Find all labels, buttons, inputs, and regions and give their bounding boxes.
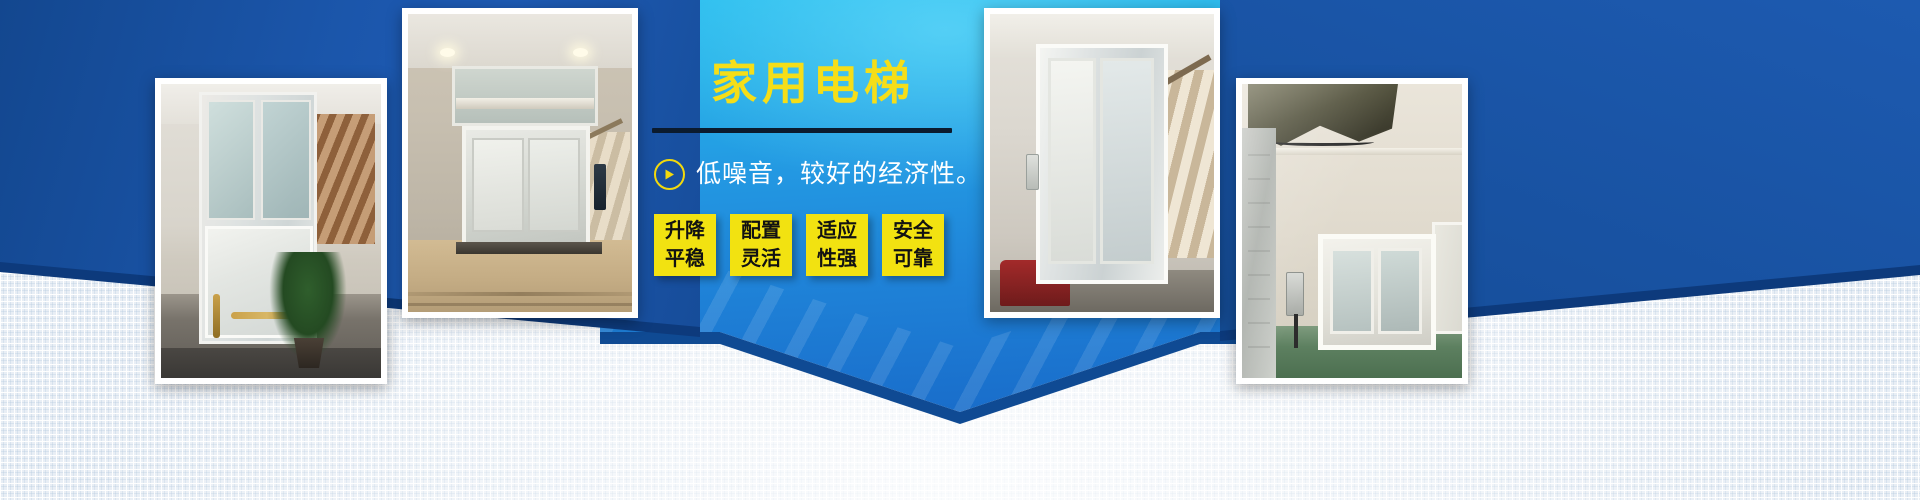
- title-divider: [652, 128, 952, 133]
- feature-badge-line1: 配置: [741, 217, 781, 245]
- product-photo-3[interactable]: [984, 8, 1220, 318]
- feature-badge-line1: 安全: [893, 217, 933, 245]
- home-elevator-banner: 家用电梯 低噪音，较好的经济性。 升降 平稳 配置 灵活 适应 性强: [0, 0, 1920, 500]
- subtitle-row: 低噪音，较好的经济性。: [654, 159, 980, 190]
- feature-badge-line2: 灵活: [741, 245, 781, 273]
- product-photo-4[interactable]: [1236, 78, 1468, 384]
- banner-content: 家用电梯 低噪音，较好的经济性。 升降 平稳 配置 灵活 适应 性强: [650, 60, 980, 276]
- product-photo-4-image: [1242, 84, 1462, 378]
- banner-title: 家用电梯: [650, 60, 980, 106]
- product-photo-2[interactable]: [402, 8, 638, 318]
- feature-badge[interactable]: 适应 性强: [806, 214, 868, 276]
- product-photo-3-image: [990, 14, 1214, 312]
- feature-badge-line1: 适应: [817, 217, 857, 245]
- product-photo-1-image: [161, 84, 381, 378]
- feature-badge-line2: 性强: [817, 245, 857, 273]
- feature-badge-list: 升降 平稳 配置 灵活 适应 性强 安全 可靠: [654, 214, 980, 276]
- feature-badge-line1: 升降: [665, 217, 705, 245]
- feature-badge[interactable]: 配置 灵活: [730, 214, 792, 276]
- banner-subtitle: 低噪音，较好的经济性。: [696, 161, 982, 189]
- product-photo-1[interactable]: [155, 78, 387, 384]
- feature-badge[interactable]: 安全 可靠: [882, 214, 944, 276]
- feature-badge-line2: 可靠: [893, 245, 933, 273]
- product-photo-2-image: [408, 14, 632, 312]
- feature-badge[interactable]: 升降 平稳: [654, 214, 716, 276]
- circled-play-arrow-icon: [654, 159, 685, 190]
- feature-badge-line2: 平稳: [665, 245, 705, 273]
